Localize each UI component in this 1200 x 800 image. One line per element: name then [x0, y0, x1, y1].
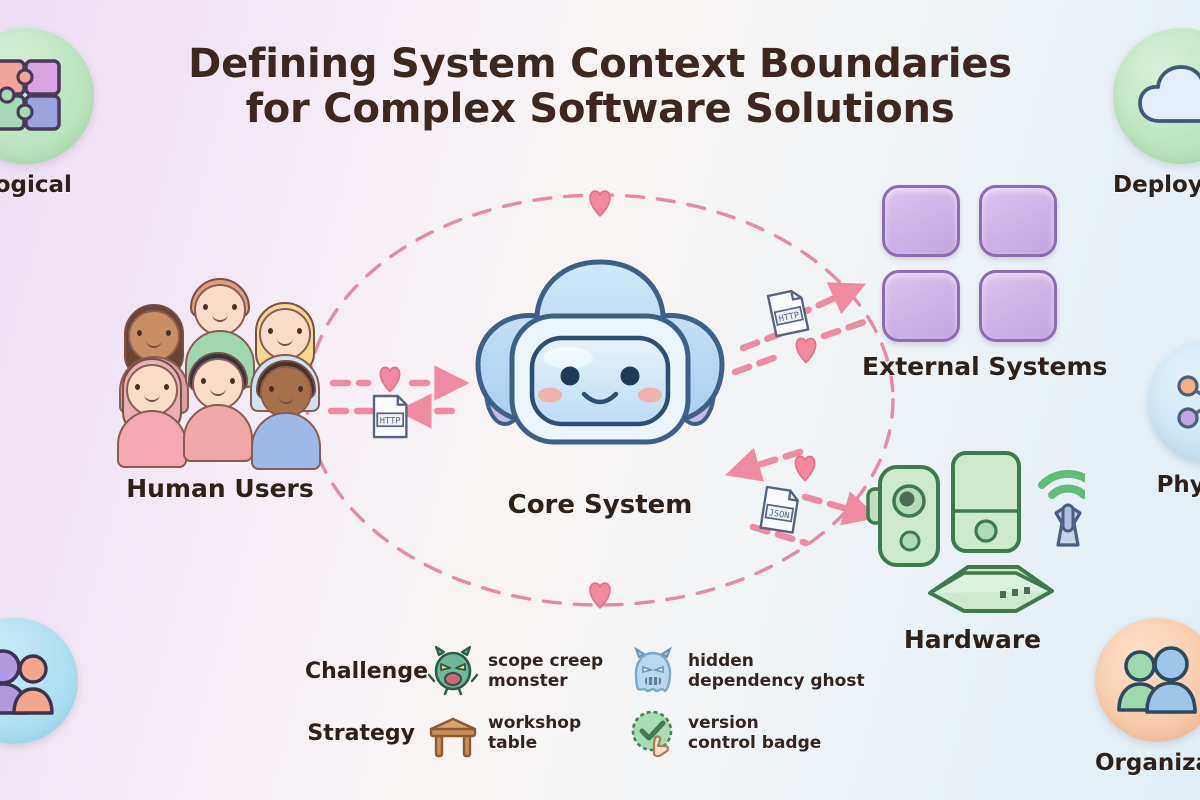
- check-badge-icon: [627, 707, 679, 759]
- infographic-canvas: Defining System Context Boundaries for C…: [0, 0, 1200, 800]
- badge-disc-deployment: [1113, 28, 1200, 164]
- badge-label-logical: Logical: [0, 172, 94, 198]
- heart-icon-boundary-top: [590, 191, 610, 216]
- tile-3: [882, 270, 960, 342]
- node-core-system[interactable]: Core System: [440, 250, 760, 520]
- http-document-icon-users-link: HTTP: [374, 396, 406, 437]
- heart-icon-hardware-link: [795, 457, 814, 481]
- legend: Challenge scope creep monster: [305, 640, 905, 764]
- heart-icon-boundary-bottom: [590, 583, 610, 608]
- link-hardware-segment-b: [753, 527, 806, 543]
- page-title: Defining System Context Boundaries for C…: [0, 42, 1200, 132]
- workshop-table-icon: [427, 707, 479, 759]
- puzzle-piece-icon: [0, 55, 67, 137]
- legend-item-scope-creep-monster[interactable]: scope creep monster: [427, 645, 627, 697]
- node-label-core-system: Core System: [440, 490, 760, 520]
- green-monster-icon: [427, 645, 479, 697]
- legend-text-workshop-table: workshop table: [488, 713, 581, 753]
- people-icon: [0, 645, 59, 717]
- tile-4: [979, 270, 1057, 342]
- heart-icon-external-link: [796, 339, 815, 363]
- badge-label-organizational: Organizational: [1095, 750, 1200, 776]
- legend-title-strategy: Strategy: [305, 721, 427, 746]
- legend-row-challenge: Challenge scope creep monster: [305, 640, 905, 702]
- heart-icon-users-link: [380, 368, 399, 392]
- legend-text-version-control-badge: version control badge: [688, 713, 821, 753]
- title-line-1: Defining System Context Boundaries: [188, 41, 1012, 87]
- cloud-robot-icon: [450, 250, 750, 482]
- cloud-icon: [1137, 61, 1200, 131]
- badge-label-deployment: Deployment: [1113, 172, 1200, 198]
- json-document-icon-hardware-link: JSON: [761, 487, 799, 533]
- tile-2: [979, 185, 1057, 257]
- http-document-icon-external-link: HTTP: [768, 289, 808, 336]
- svg-text:HTTP: HTTP: [380, 417, 401, 427]
- badge-label-physical: Physical: [1148, 472, 1200, 498]
- legend-item-hidden-dependency-ghost[interactable]: hidden dependency ghost: [627, 645, 865, 697]
- people-group-icon: [115, 278, 325, 468]
- badge-disc-logical: [0, 28, 94, 164]
- blue-ghost-icon: [627, 645, 679, 697]
- badge-disc-stakeholders: [0, 618, 78, 744]
- node-label-external-systems: External Systems: [862, 352, 1082, 381]
- svg-text:HTTP: HTTP: [778, 311, 800, 325]
- network-nodes-icon: [1168, 360, 1200, 444]
- legend-row-strategy: Strategy workshop table: [305, 702, 905, 764]
- devices-icon: [860, 445, 1085, 615]
- legend-text-scope-creep-monster: scope creep monster: [488, 651, 603, 691]
- link-external-segment-c: [824, 322, 864, 336]
- badge-disc-organizational: [1095, 618, 1200, 742]
- people-icon: [1113, 644, 1200, 716]
- badge-disc-physical: [1148, 340, 1200, 464]
- link-core-to-hardware-arrow: [805, 497, 862, 513]
- badge-stakeholders[interactable]: [0, 618, 78, 752]
- badge-physical[interactable]: Physical: [1148, 340, 1200, 498]
- legend-item-version-control-badge[interactable]: version control badge: [627, 707, 821, 759]
- svg-text:JSON: JSON: [768, 508, 790, 521]
- badge-deployment[interactable]: Deployment: [1113, 28, 1200, 198]
- title-line-2: for Complex Software Solutions: [0, 87, 1200, 132]
- tile-1: [882, 185, 960, 257]
- legend-text-hidden-dependency-ghost: hidden dependency ghost: [688, 651, 865, 691]
- four-tiles-icon: [882, 185, 1062, 342]
- node-label-human-users: Human Users: [105, 474, 335, 503]
- badge-organizational[interactable]: Organizational: [1095, 618, 1200, 776]
- link-core-to-external-arrow: [795, 291, 850, 316]
- node-human-users[interactable]: Human Users: [105, 278, 335, 503]
- legend-item-workshop-table[interactable]: workshop table: [427, 707, 627, 759]
- node-hardware[interactable]: Hardware: [855, 445, 1090, 654]
- badge-logical[interactable]: Logical: [0, 28, 94, 198]
- legend-title-challenge: Challenge: [305, 659, 427, 684]
- node-external-systems[interactable]: External Systems: [862, 185, 1082, 381]
